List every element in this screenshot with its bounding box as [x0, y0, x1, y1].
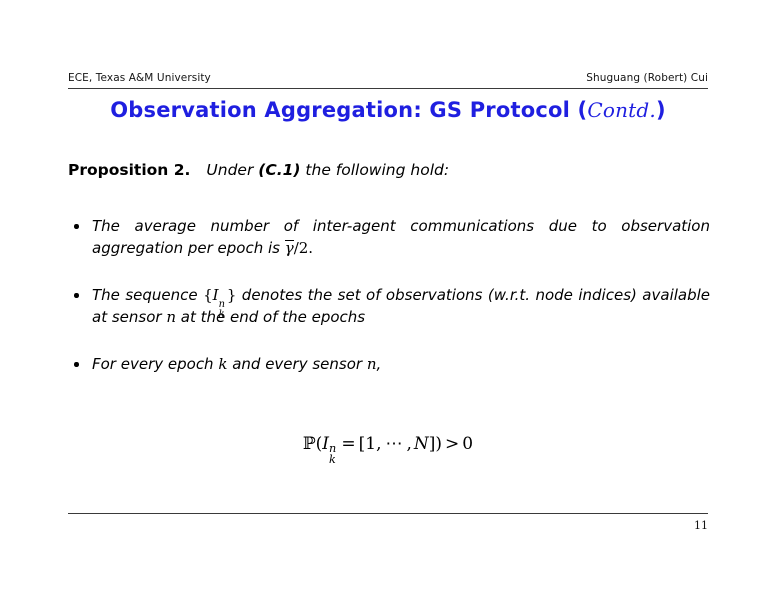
bullet-text-lead: For every epoch: [92, 355, 218, 373]
bullet-text-tail: at the end of the epochs: [176, 308, 365, 326]
first-index: 1,: [365, 434, 381, 454]
bullet-text-tail: ,: [377, 355, 382, 373]
bullet-dot-icon: [74, 362, 79, 367]
proposition-body-before: Under: [206, 161, 258, 179]
proposition-label: Proposition 2.: [68, 161, 190, 179]
sensor-index-symbol: n: [367, 355, 377, 373]
page-title-main: Observation Aggregation: GS Protocol (: [110, 98, 587, 122]
bullet-list: The average number of inter-agent commun…: [68, 216, 710, 376]
slide-header: ECE, Texas A&M University Shuguang (Robe…: [68, 72, 708, 85]
gamma-bar-symbol: γ: [285, 239, 294, 257]
page-title-tail: ): [656, 98, 666, 122]
header-affiliation: ECE, Texas A&M University: [68, 72, 211, 85]
bullet-dot-icon: [74, 293, 79, 298]
bullet-text: The average number of inter-agent commun…: [92, 217, 710, 257]
gamma-symbol: γ: [285, 240, 294, 256]
slide-canvas: ECE, Texas A&M University Shuguang (Robe…: [0, 0, 776, 600]
list-item: For every epoch k and every sensor n,: [68, 354, 710, 376]
header-divider-rule: [68, 88, 708, 89]
set-brace-close: }: [227, 286, 237, 304]
bullet-text-mid: and every sensor: [227, 355, 366, 373]
greater-than-sign: >: [442, 434, 462, 454]
probability-operator-symbol: ℙ: [303, 434, 316, 454]
ellipsis-dots: ⋯: [381, 434, 406, 454]
list-item: The average number of inter-agent commun…: [68, 216, 710, 259]
bullet-dot-icon: [74, 224, 79, 229]
gamma-bar-divisor: /2.: [294, 239, 313, 257]
observation-set-symbol: I: [322, 434, 329, 454]
list-item: The sequence {Ikn} denotes the set of ob…: [68, 285, 710, 328]
observation-set-superscript: n: [219, 294, 225, 316]
page-title: Observation Aggregation: GS Protocol (Co…: [0, 98, 776, 122]
equals-sign: =: [338, 434, 358, 454]
proposition-body: Under (C.1) the following hold:: [206, 161, 449, 179]
proposition-statement: Proposition 2.Under (C.1) the following …: [68, 160, 449, 180]
set-brace-open: {: [203, 286, 213, 304]
display-equation: ℙ(Ikn=[1,⋯,N])>0: [0, 434, 776, 454]
proposition-body-after: the following hold:: [300, 161, 449, 179]
header-author: Shuguang (Robert) Cui: [586, 72, 708, 85]
equation-right-hand-side: 0: [462, 434, 473, 454]
bullet-text-lead: The sequence: [92, 286, 203, 304]
observation-set-superscript: n: [329, 442, 336, 455]
last-index: N: [412, 434, 429, 454]
footer-divider-rule: [68, 513, 708, 514]
proposition-condition-ref: (C.1): [258, 161, 300, 179]
page-title-italic: Contd.: [587, 98, 656, 122]
sensor-index-symbol: n: [166, 308, 176, 326]
page-number: 11: [694, 519, 708, 532]
